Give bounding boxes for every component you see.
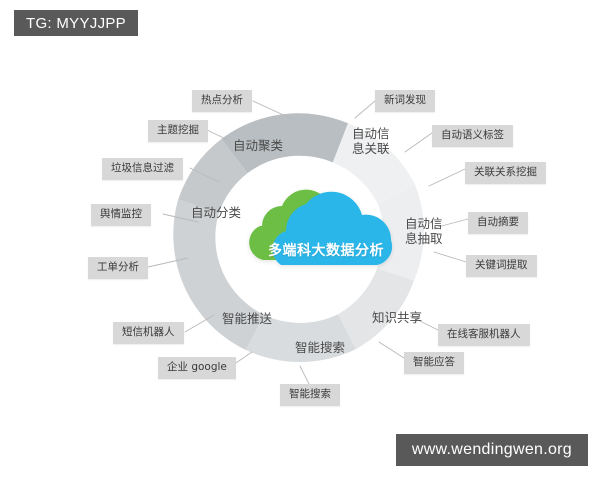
callout-enterprise-google[interactable]: 企业 google — [158, 357, 236, 379]
watermark-tag: TG: MYYJJPP — [14, 10, 138, 36]
connector-new-word-discovery — [355, 101, 375, 118]
callout-sms-robot[interactable]: 短信机器人 — [113, 322, 184, 344]
ring-segment-smart-push[interactable] — [173, 199, 264, 350]
ring-label-auto-info-association: 自动信 息关联 — [352, 126, 404, 157]
watermark-url: www.wendingwen.org — [396, 434, 588, 466]
connector-auto-semantic-tag — [405, 133, 432, 152]
ring-label-auto-info-extraction: 自动信 息抽取 — [405, 216, 457, 247]
callout-smart-response[interactable]: 智能应答 — [404, 352, 464, 374]
callout-topic-mining[interactable]: 主题挖掘 — [148, 120, 208, 142]
cloud-center-label: 多端科大数据分析 — [268, 240, 384, 260]
connector-relation-mining — [429, 169, 465, 186]
callout-hotspot-analysis[interactable]: 热点分析 — [192, 90, 252, 112]
callout-relation-mining[interactable]: 关联关系挖掘 — [465, 162, 546, 184]
callout-smart-search[interactable]: 智能搜索 — [280, 384, 340, 406]
ring-label-smart-search: 智能搜索 — [280, 340, 360, 355]
ring-label-auto-clustering: 自动聚类 — [218, 138, 298, 153]
callout-ticket-analysis[interactable]: 工单分析 — [88, 257, 148, 279]
callout-spam-filtering[interactable]: 垃圾信息过滤 — [102, 158, 183, 180]
ring-label-knowledge-sharing: 知识共享 — [357, 310, 437, 325]
ring-label-smart-push: 智能推送 — [207, 311, 287, 326]
callout-auto-semantic-tag[interactable]: 自动语义标签 — [432, 125, 513, 147]
callout-opinion-monitoring[interactable]: 舆情监控 — [91, 204, 151, 226]
diagram-canvas: 多端科大数据分析 自动聚类 自动分类 智能推送 智能搜索 知识共享 自动信 息抽… — [0, 0, 600, 480]
callout-online-service-robot[interactable]: 在线客服机器人 — [438, 324, 530, 346]
callout-new-word-discovery[interactable]: 新词发现 — [375, 90, 435, 112]
ring-label-auto-classification: 自动分类 — [176, 205, 256, 220]
callout-keyword-extraction[interactable]: 关键词提取 — [466, 255, 537, 277]
connector-keyword-extraction — [434, 252, 466, 262]
callout-auto-summary[interactable]: 自动摘要 — [468, 212, 528, 234]
connector-smart-response — [379, 342, 404, 358]
connector-hotspot-analysis — [253, 101, 290, 118]
